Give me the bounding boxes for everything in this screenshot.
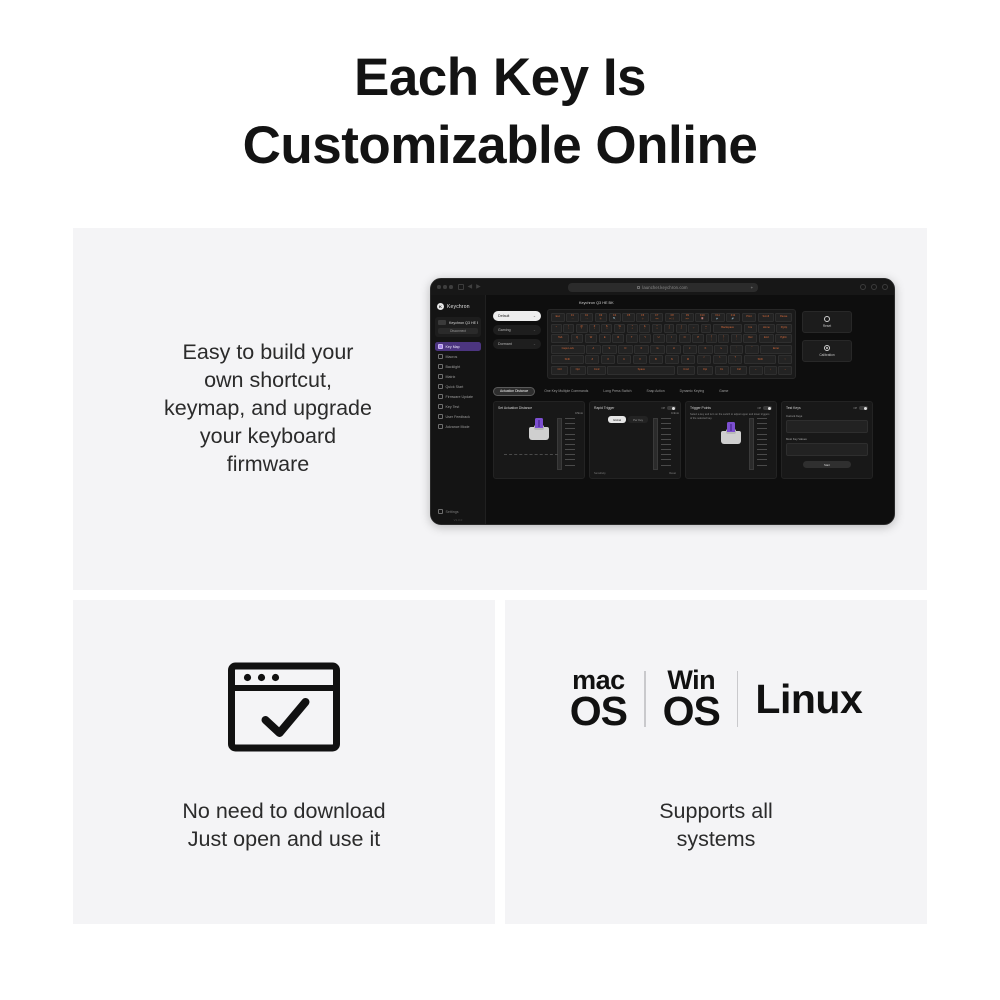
key-o[interactable]: O — [679, 334, 691, 343]
key-f6[interactable]: F6◍ — [636, 313, 648, 322]
keyboard-row: CtrlOptCmdSpaceCmdOptFnCtrl←↓→ — [551, 366, 792, 375]
distance-bar[interactable] — [557, 418, 562, 470]
sensitivity-bar[interactable] — [653, 418, 658, 470]
key-sublegend: = — [705, 328, 706, 330]
key-sublegend: ◍ — [642, 318, 644, 320]
key-sublegend: 🔊 — [732, 318, 735, 320]
trigger-points-toggle[interactable] — [763, 406, 772, 411]
key-caps-lock[interactable]: Caps Lock — [551, 345, 585, 354]
key-e[interactable]: E — [599, 334, 611, 343]
sidebar-item-label: Firmware Update — [446, 395, 474, 399]
matrix-icon — [438, 374, 443, 379]
key-legend: Home — [763, 327, 770, 330]
copy-line-1: Easy to build your — [103, 338, 433, 366]
key-legend: Cmd — [594, 369, 599, 372]
advance-icon — [438, 424, 443, 429]
sidebar-item-matrix[interactable]: Matrix — [435, 372, 481, 381]
app-sidebar: K Keychron Keychron Q3 HE BK Disconnect — [431, 295, 486, 525]
key-legend: ↑ — [784, 359, 785, 362]
chevron-down-icon: ⌄ — [533, 342, 536, 346]
key-v[interactable]: V — [633, 355, 647, 364]
sidebar-item-settings[interactable]: Settings — [435, 507, 481, 516]
key--[interactable]: ~` — [551, 324, 562, 333]
chevron-left-icon[interactable]: ◀ — [468, 284, 473, 290]
key-f9[interactable]: F9▶▶ — [681, 313, 694, 322]
key-legend: C — [623, 359, 625, 362]
key-sublegend: 1 — [568, 328, 569, 330]
divider — [644, 671, 646, 727]
key-print[interactable]: Print — [742, 313, 757, 322]
key-f8[interactable]: F8▶❙❙ — [665, 313, 680, 322]
key-sublegend: ☼- — [571, 318, 574, 320]
key-opt[interactable]: Opt — [697, 366, 713, 375]
key-i[interactable]: I — [666, 334, 677, 343]
chevron-down-icon: ⌄ — [533, 328, 536, 332]
key-legend: Shift — [565, 359, 570, 362]
close-icon[interactable] — [437, 285, 441, 289]
key--[interactable]: <, — [697, 355, 711, 364]
key-q[interactable]: Q — [571, 334, 583, 343]
action-buttons: Reset Calibration — [802, 309, 852, 362]
key-legend: N — [671, 359, 673, 362]
current-keys-field[interactable] — [786, 420, 868, 433]
key-f[interactable]: F — [634, 345, 648, 354]
sidebar-item-key-test[interactable]: Key Test — [435, 402, 481, 411]
keyboard-row: TabQWERTYUIOP{[}]|\DelEndPgDn — [551, 334, 792, 343]
tab-snap-action[interactable]: Snap Action — [640, 387, 670, 396]
key-j[interactable]: J — [683, 345, 697, 354]
key-n[interactable]: N — [665, 355, 679, 364]
headline-line-2: Customizable Online — [0, 112, 1000, 180]
key-legend: F — [641, 348, 643, 351]
key-legend: Scroll — [763, 316, 770, 319]
key--[interactable]: → — [778, 366, 792, 375]
panel-title: Rapid Trigger — [594, 406, 614, 410]
keytest-icon — [438, 404, 443, 409]
key-sublegend: 7 — [644, 328, 645, 330]
key-legend: Print — [746, 316, 751, 319]
key-ctrl[interactable]: Ctrl — [730, 366, 747, 375]
browser-window-check-icon — [228, 662, 341, 752]
key-legend: Z — [591, 359, 593, 362]
key-f5[interactable]: F5◌ — [622, 313, 634, 322]
key-legend: Q — [576, 337, 578, 340]
trigger-bar[interactable] — [749, 418, 754, 470]
brand: K Keychron — [437, 303, 481, 310]
key--[interactable]: ← — [749, 366, 763, 375]
panel-title: Test Keys — [786, 406, 801, 410]
key--[interactable]: (9 — [664, 324, 675, 333]
key-h[interactable]: H — [666, 345, 681, 354]
key-legend: J — [689, 348, 690, 351]
minimize-icon[interactable] — [443, 285, 447, 289]
key-s[interactable]: S — [602, 345, 616, 354]
key-sublegend: ▶▶ — [686, 318, 689, 320]
target-icon — [824, 345, 830, 351]
logo-mark: K — [439, 305, 442, 309]
key-sublegend: 4 — [606, 328, 607, 330]
key-legend: ↓ — [770, 369, 771, 372]
key-f12[interactable]: F12🔊 — [726, 313, 740, 322]
switch-base — [721, 431, 741, 444]
switch-stem — [535, 418, 543, 428]
keyboard-layout[interactable]: EscF1☼-F2☼+F3▦F4🔍F5◌F6◍F7◀◀F8▶❙❙F9▶▶F10🔇… — [547, 309, 796, 379]
key-ins[interactable]: Ins — [744, 324, 757, 333]
disconnect-label: Disconnect — [450, 329, 466, 333]
key-m[interactable]: M — [681, 355, 696, 364]
key-legend: R — [617, 337, 619, 340]
key--[interactable]: {[ — [706, 334, 717, 343]
sidebar-item-label: User Feedback — [446, 415, 470, 419]
key-legend: E — [604, 337, 606, 340]
key--[interactable]: $4 — [601, 324, 612, 333]
keyboard-thumbnail-icon — [438, 320, 446, 325]
rapid-trigger-value: 0.3mm — [671, 412, 679, 415]
foot-right-label[interactable]: Reset — [669, 472, 676, 475]
disconnect-button[interactable]: Disconnect — [438, 328, 478, 334]
sidebar-item-user-feedback[interactable]: User Feedback — [435, 412, 481, 421]
key-cmd[interactable]: Cmd — [587, 366, 605, 375]
key-end[interactable]: End — [759, 334, 774, 343]
supported-systems-card: mac OS Win OS Linux Supports all systems — [505, 600, 927, 924]
profile-list: Default ⌄ Gaming ⌄ Dormant ⌄ — [493, 309, 541, 349]
key-sublegend: 🔍 — [613, 318, 616, 320]
sidebar-item-backlight[interactable]: Backlight — [435, 362, 481, 371]
switch-stem — [727, 422, 735, 432]
key-legend: Enter — [773, 348, 779, 351]
sidebar-item-label: Key Map — [446, 345, 460, 349]
sidebar-item-quick-start[interactable]: Quick Start — [435, 382, 481, 391]
seg-global[interactable]: Global — [608, 416, 626, 423]
toggle-label: Off — [757, 406, 761, 410]
key-legend: Cmd — [683, 369, 688, 372]
rocket-icon — [438, 384, 443, 389]
key-legend: → — [784, 369, 787, 372]
key-sublegend: ▶❙❙ — [669, 318, 674, 320]
key-del[interactable]: Del — [743, 334, 757, 343]
key-legend: Y — [644, 337, 646, 340]
key-f3[interactable]: F3▦ — [595, 313, 607, 322]
tab-grid-icon[interactable] — [458, 284, 464, 290]
device-name: Keychron Q3 HE BK — [449, 321, 478, 325]
key-sublegend: ; — [736, 349, 737, 351]
plus-icon[interactable] — [871, 284, 877, 290]
key-scroll[interactable]: Scroll — [758, 313, 774, 322]
app-body: K Keychron Keychron Q3 HE BK Disconnect — [431, 295, 894, 525]
no-download-caption: No need to download Just open and use it — [73, 797, 495, 853]
key-cmd[interactable]: Cmd — [677, 366, 695, 375]
os-macos-suffix: OS — [570, 693, 627, 731]
sidebar-footer: Settings V1.0.0 — [435, 507, 481, 522]
key-u[interactable]: U — [653, 334, 665, 343]
key-legend: S — [608, 348, 610, 351]
panel-trigger-points: Trigger Points Off Select a key and turn… — [685, 401, 777, 479]
key-sublegend: ` — [556, 328, 557, 330]
key-f11[interactable]: F11🔉 — [711, 313, 725, 322]
backlight-icon — [438, 364, 443, 369]
current-keys-label: Current Keys — [786, 414, 868, 418]
key-legend: Caps Lock — [562, 348, 574, 351]
key-sublegend: / — [735, 360, 736, 362]
gear-icon — [438, 509, 443, 514]
key-legend: Ctrl — [557, 369, 561, 372]
tab-game[interactable]: Game — [713, 387, 734, 396]
reset-label: Reset — [823, 324, 831, 328]
key-sublegend: 🔉 — [716, 318, 719, 320]
keychron-logo-icon: K — [437, 303, 444, 310]
calibration-label: Calibration — [819, 353, 834, 357]
switch-illustration — [721, 422, 741, 444]
keyboard-row: ~`!1@2#3$4%5^6&7*8(9)0_-+=BackspaceInsHo… — [551, 324, 792, 333]
key-legend: U — [658, 337, 660, 340]
profile-label: Dormant — [498, 342, 512, 346]
key-legend: Fn — [720, 369, 723, 372]
start-button[interactable]: Start — [803, 461, 851, 468]
lock-icon — [637, 286, 640, 289]
key--[interactable]: :; — [730, 345, 743, 354]
profile-dormant[interactable]: Dormant ⌄ — [493, 339, 541, 349]
key-legend: Tab — [558, 337, 562, 340]
key-fn[interactable]: Fn — [715, 366, 729, 375]
os-winos: Win OS — [663, 668, 720, 731]
reset-button[interactable]: Reset — [802, 311, 852, 333]
keyboard-title: Keychron Q3 HE BK — [579, 301, 887, 305]
key-shift[interactable]: Shift — [551, 355, 584, 364]
key-legend: Opt — [703, 369, 707, 372]
key--[interactable]: ↓ — [764, 366, 776, 375]
key--[interactable]: )0 — [676, 324, 687, 333]
key-sublegend: 8 — [656, 328, 657, 330]
test-keys-toggle[interactable] — [859, 406, 868, 411]
key-legend: M — [687, 359, 689, 362]
sensitivity-ruler — [661, 418, 671, 470]
supports-all-caption: Supports all systems — [505, 797, 927, 853]
sidebar-item-key-map[interactable]: Key Map — [435, 342, 481, 351]
key-legend: Esc — [556, 316, 560, 319]
key--[interactable]: &7 — [639, 324, 650, 333]
key-esc[interactable]: Esc — [551, 313, 565, 322]
key-t[interactable]: T — [626, 334, 638, 343]
key-legend: X — [607, 359, 609, 362]
key-legend: G — [657, 348, 659, 351]
distance-ruler — [565, 418, 575, 470]
chevron-right-icon[interactable]: ▶ — [476, 284, 481, 290]
caption-line-1: No need to download — [182, 799, 385, 823]
start-label: Start — [824, 463, 830, 467]
key-opt[interactable]: Opt — [570, 366, 586, 375]
keyboard-row: Caps LockASDFGHJKL:;"'Enter — [551, 345, 792, 354]
panel-set-actuation-distance: Set Actuation Distance 0.5mm — [493, 401, 585, 479]
key-sublegend: ◌ — [628, 318, 629, 320]
key--[interactable]: @2 — [576, 324, 588, 333]
key-x[interactable]: X — [601, 355, 615, 364]
os-logos: mac OS Win OS Linux — [505, 668, 927, 731]
key--[interactable]: %5 — [614, 324, 626, 333]
star-icon[interactable]: ✦ — [750, 285, 753, 290]
key-legend: End — [764, 337, 769, 340]
key-backspace[interactable]: Backspace — [713, 324, 742, 333]
key-legend: ← — [755, 369, 758, 372]
key-legend: H — [673, 348, 675, 351]
key-a[interactable]: A — [586, 345, 600, 354]
key-sublegend: 🔇 — [701, 318, 704, 320]
sidebar-item-advance-mode[interactable]: Advance Mode — [435, 422, 481, 431]
sidebar-item-firmware-update[interactable]: Firmware Update — [435, 392, 481, 401]
key-legend: O — [684, 337, 686, 340]
key-f2[interactable]: F2☼+ — [580, 313, 593, 322]
sidebar-item-label: Key Test — [446, 405, 460, 409]
key-legend: Ins — [749, 327, 752, 330]
copy-line-4: your keyboard — [103, 422, 433, 450]
key-sublegend: 3 — [594, 328, 595, 330]
key-legend: T — [631, 337, 633, 340]
feedback-icon — [438, 414, 443, 419]
switch-illustration — [529, 418, 549, 440]
tab-long-press-switch[interactable]: Long Press Switch — [597, 387, 637, 396]
keyboard-row: EscF1☼-F2☼+F3▦F4🔍F5◌F6◍F7◀◀F8▶❙❙F9▶▶F10🔇… — [551, 313, 792, 322]
key-k[interactable]: K — [698, 345, 712, 354]
key-sublegend: 6 — [632, 328, 633, 330]
main-feature-card: Easy to build your own shortcut, keymap,… — [73, 228, 927, 590]
copy-line-2: own shortcut, — [103, 366, 433, 394]
key-y[interactable]: Y — [639, 334, 651, 343]
key-w[interactable]: W — [585, 334, 598, 343]
key-sublegend: 0 — [681, 328, 682, 330]
copy-line-5: firmware — [103, 450, 433, 478]
os-winos-suffix: OS — [663, 693, 720, 731]
key--[interactable]: >. — [713, 355, 727, 364]
panel-title: Trigger Points — [690, 406, 711, 410]
sidebar-item-label: Advance Mode — [446, 425, 470, 429]
profile-gaming[interactable]: Gaming ⌄ — [493, 325, 541, 335]
key--[interactable]: ^6 — [627, 324, 638, 333]
key-l[interactable]: L — [714, 345, 728, 354]
key-f4[interactable]: F4🔍 — [609, 313, 621, 322]
key-enter[interactable]: Enter — [760, 345, 792, 354]
seg-per-key[interactable]: Per Key — [628, 416, 648, 423]
os-macos: mac OS — [570, 668, 627, 731]
key--[interactable]: !1 — [563, 324, 574, 333]
toggle-label: Off — [853, 406, 857, 410]
page-title: Each Key Is Customizable Online — [0, 44, 1000, 180]
key-p[interactable]: P — [692, 334, 704, 343]
tab-dynamic-keying[interactable]: Dynamic Keying — [674, 387, 711, 396]
key-sublegend: \ — [736, 339, 737, 341]
profile-label: Default — [498, 314, 509, 318]
copy-line-3: keymap, and upgrade — [103, 394, 433, 422]
feature-tabs: Actuation Distance One Key Multiple Comm… — [493, 387, 887, 396]
key-sublegend: , — [704, 360, 705, 362]
window-controls[interactable] — [437, 285, 453, 289]
key--[interactable]: *8 — [652, 324, 663, 333]
browser-titlebar: ◀ ▶ launcher.keychron.com ✦ — [431, 279, 894, 295]
main-card-copy: Easy to build your own shortcut, keymap,… — [103, 338, 433, 478]
calibration-button[interactable]: Calibration — [802, 340, 852, 362]
key-pause[interactable]: Pause — [775, 313, 792, 322]
settings-label: Settings — [446, 510, 459, 514]
key-z[interactable]: Z — [585, 355, 599, 364]
key-legend: V — [639, 359, 641, 362]
most-key-values-field[interactable] — [786, 443, 868, 456]
key--[interactable]: }] — [718, 334, 729, 343]
caption-line-2: systems — [505, 825, 927, 853]
key--[interactable]: _- — [688, 324, 699, 333]
key--[interactable]: |\ — [731, 334, 742, 343]
maximize-icon[interactable] — [449, 285, 453, 289]
key--[interactable]: #3 — [589, 324, 600, 333]
key-c[interactable]: C — [617, 355, 631, 364]
copy-icon[interactable] — [882, 284, 888, 290]
sidebar-item-label: Macros — [446, 355, 458, 359]
key-legend: Backspace — [721, 327, 734, 330]
key-shift[interactable]: Shift — [744, 355, 777, 364]
key-sublegend: [ — [711, 339, 712, 341]
key-pgup[interactable]: PgUp — [776, 324, 792, 333]
key-g[interactable]: G — [650, 345, 665, 354]
key-r[interactable]: R — [612, 334, 624, 343]
key-f10[interactable]: F10🔇 — [695, 313, 709, 322]
key-legend: Del — [748, 337, 752, 340]
reset-circle-icon — [824, 316, 830, 322]
key-legend: Opt — [576, 369, 580, 372]
switch-base — [529, 427, 549, 440]
key-sublegend: ] — [724, 339, 725, 341]
profile-default[interactable]: Default ⌄ — [493, 311, 541, 321]
rapid-trigger-toggle[interactable] — [667, 406, 676, 411]
key-pgdn[interactable]: PgDn — [775, 334, 792, 343]
key-ctrl[interactable]: Ctrl — [551, 366, 568, 375]
panel-title: Set Actuation Distance — [498, 406, 532, 410]
key-d[interactable]: D — [618, 345, 633, 354]
actuation-value: 0.5mm — [575, 412, 583, 415]
share-icon[interactable] — [860, 284, 866, 290]
key-legend: L — [721, 348, 722, 351]
device-selector[interactable]: Keychron Q3 HE BK Disconnect — [435, 317, 481, 337]
tab-actuation-distance[interactable]: Actuation Distance — [493, 387, 535, 396]
key-legend: PgUp — [781, 327, 788, 330]
panel-test-keys: Test Keys Off Current Keys Most Key Valu… — [781, 401, 873, 479]
key-sublegend: - — [693, 328, 694, 330]
key-f1[interactable]: F1☼- — [566, 313, 578, 322]
url-bar[interactable]: launcher.keychron.com ✦ — [568, 283, 758, 292]
tab-one-key-multiple-commands[interactable]: One Key Multiple Commands — [538, 387, 594, 396]
key-f7[interactable]: F7◀◀ — [650, 313, 663, 322]
key--[interactable]: "' — [745, 345, 759, 354]
key-legend: I — [671, 337, 672, 340]
key--[interactable]: ?/ — [728, 355, 742, 364]
key-space[interactable]: Space — [607, 366, 675, 375]
actuation-threshold-line — [504, 454, 558, 455]
sidebar-nav: Key Map Macros Backlight Matrix — [435, 342, 481, 431]
most-key-values-label: Most Key Values — [786, 437, 868, 441]
key--[interactable]: += — [701, 324, 712, 333]
profile-label: Gaming — [498, 328, 511, 332]
product-feature-page: Each Key Is Customizable Online Easy to … — [0, 0, 1000, 1000]
keymap-icon — [438, 344, 443, 349]
key-b[interactable]: B — [649, 355, 663, 364]
sidebar-item-label: Matrix — [446, 375, 456, 379]
key-legend: D — [624, 348, 626, 351]
key-home[interactable]: Home — [758, 324, 774, 333]
key--[interactable]: ↑ — [778, 355, 792, 364]
sidebar-item-label: Backlight — [446, 365, 461, 369]
key-sublegend: ◀◀ — [655, 318, 658, 320]
key-sublegend: ☼+ — [585, 318, 588, 320]
sidebar-item-macros[interactable]: Macros — [435, 352, 481, 361]
key-legend: B — [655, 359, 657, 362]
key-tab[interactable]: Tab — [551, 334, 569, 343]
app-screenshot: ◀ ▶ launcher.keychron.com ✦ — [430, 278, 895, 525]
